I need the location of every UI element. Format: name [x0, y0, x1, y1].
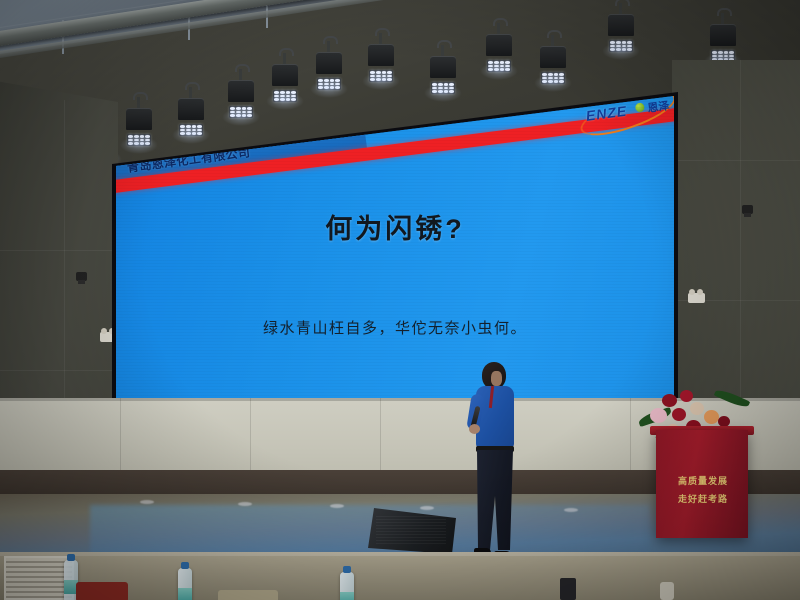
slide-subtitle: 绿水青山枉自多，华佗无奈小虫何。: [116, 317, 674, 338]
floor-socket: [420, 506, 434, 510]
water-bottle: [340, 572, 354, 600]
stage-light: [368, 42, 394, 76]
security-camera-icon: [76, 272, 87, 281]
slide-title: 何为闪锈?: [116, 207, 674, 246]
stage-light: [228, 78, 254, 112]
water-bottle: [178, 568, 192, 600]
foreground-object: [560, 578, 576, 600]
presenter-trousers: [477, 450, 513, 550]
ledge-edge: [0, 552, 800, 556]
emergency-light-icon: [688, 293, 705, 303]
stage-light: [608, 12, 634, 46]
presenter-head: [482, 362, 506, 389]
presenter: [468, 362, 532, 562]
stage-light: [486, 32, 512, 66]
stage-light: [126, 106, 152, 140]
chair-back: [76, 582, 128, 600]
presenter-hand: [469, 424, 480, 434]
floor-socket: [330, 504, 344, 508]
stage-light: [710, 22, 736, 56]
logo-chinese-text: 恩泽: [646, 97, 670, 116]
stage-light: [178, 96, 204, 130]
podium-slogan-line2: 走好赶考路: [660, 492, 746, 505]
stage-light: [272, 62, 298, 96]
stage-light: [430, 54, 456, 88]
chair-back: [218, 590, 278, 600]
stage-light: [540, 44, 566, 78]
foreground-cup: [660, 582, 674, 600]
stage-light: [316, 50, 342, 84]
logo-dot-icon: [635, 102, 645, 112]
floor-socket: [140, 500, 154, 504]
floor-socket: [238, 502, 252, 506]
conference-hall-photo: 青岛恩泽化工有限公司 ENZE 恩泽 何为闪锈? 绿水青山枉自多，华佗无奈小虫何…: [0, 0, 800, 600]
podium-slogan-line1: 高质量发展: [660, 474, 746, 487]
floor-socket: [564, 508, 578, 512]
security-camera-icon: [742, 205, 753, 214]
